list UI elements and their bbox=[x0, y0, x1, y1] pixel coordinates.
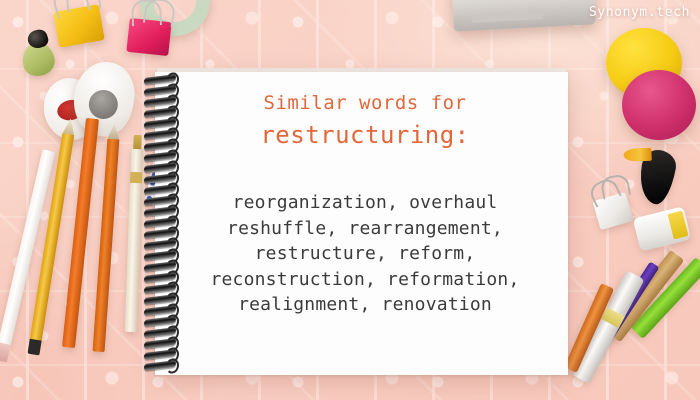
note-content: Similar words for restructuring: reorgan… bbox=[175, 88, 555, 318]
note-title-line-1: Similar words for bbox=[175, 88, 555, 118]
pink-macaron-prop bbox=[622, 70, 696, 140]
spiral-binding bbox=[144, 74, 178, 372]
synonym-list: reorganization, overhaul reshuffle, rear… bbox=[175, 190, 555, 318]
note-headword: restructuring: bbox=[175, 118, 555, 152]
pink-binder-clip-prop bbox=[126, 18, 171, 56]
toucan-beak bbox=[623, 148, 651, 162]
synonym-line: reshuffle, rearrangement, bbox=[175, 216, 555, 242]
spiral-coil bbox=[144, 360, 176, 371]
synonym-line: reorganization, overhaul bbox=[175, 190, 555, 216]
pen-band bbox=[130, 172, 142, 183]
synonym-line: restructure, reform, bbox=[175, 241, 555, 267]
pen-tip bbox=[133, 135, 141, 149]
synonym-line: realignment, renovation bbox=[175, 292, 555, 318]
site-logo[interactable]: Synonym.tech bbox=[589, 5, 690, 20]
synonym-line: reconstruction, reformation, bbox=[175, 267, 555, 293]
bottle-label bbox=[668, 211, 689, 240]
camera-grip-strip bbox=[471, 13, 543, 23]
